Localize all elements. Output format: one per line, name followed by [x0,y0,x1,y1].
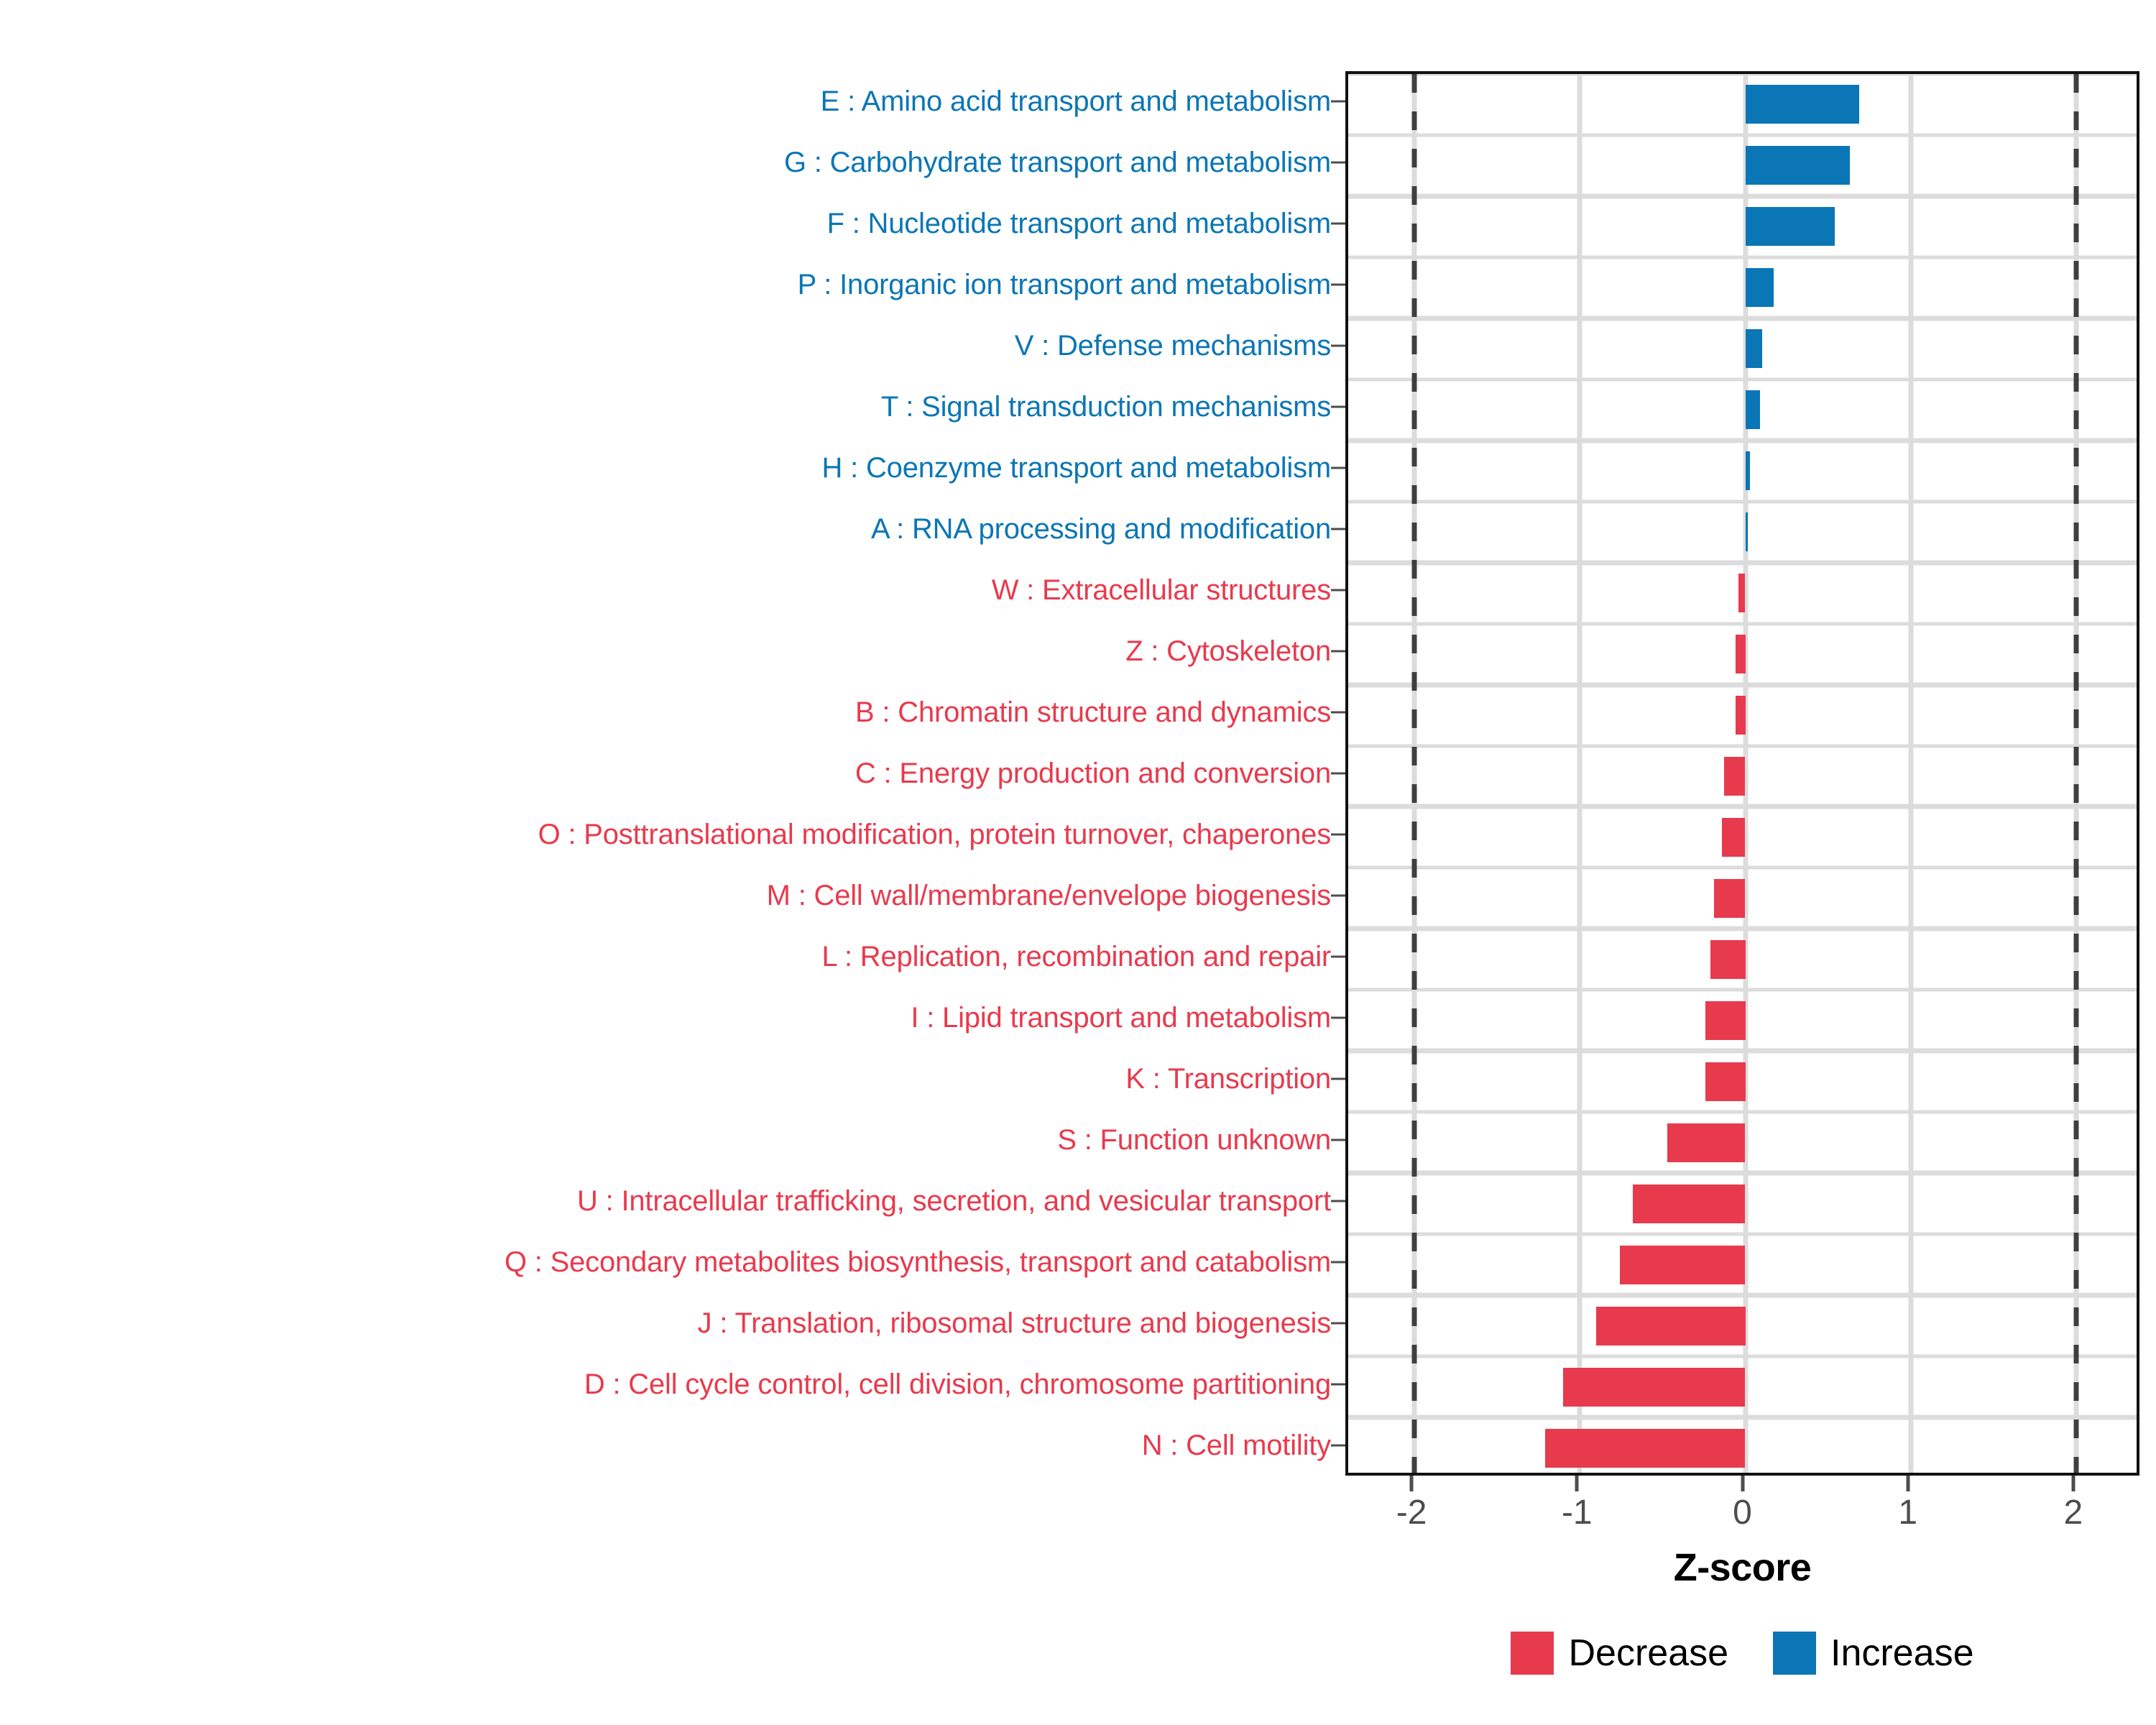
y-axis-tick [1331,1200,1345,1202]
bar [1722,818,1745,857]
gridline-vertical [1908,74,1913,1473]
category-label: G : Carbohydrate transport and metabolis… [0,148,1331,177]
bar [1545,1429,1746,1468]
bar [1746,451,1751,490]
bar [1738,574,1745,612]
category-label: E : Amino acid transport and metabolism [0,87,1331,116]
y-axis-tick [1331,406,1345,408]
plot-panel [1345,71,2139,1476]
y-axis-tick [1331,162,1345,164]
category-label: I : Lipid transport and metabolism [0,1003,1331,1032]
legend-swatch [1511,1632,1554,1675]
bar [1667,1123,1745,1162]
category-label-column: E : Amino acid transport and metabolismG… [0,71,1345,1476]
bar [1724,757,1746,796]
category-label: S : Function unknown [0,1126,1331,1154]
x-axis-tick [1741,1476,1744,1491]
legend-swatch [1773,1632,1816,1675]
category-label: C : Energy production and conversion [0,759,1331,788]
bar [1736,696,1746,735]
legend-label: Decrease [1568,1632,1728,1675]
x-axis-title: Z-score [1345,1545,2139,1590]
category-label: K : Transcription [0,1064,1331,1093]
bar [1705,1001,1745,1040]
bar [1596,1307,1745,1345]
bar [1563,1368,1745,1407]
y-axis-tick [1331,1138,1345,1141]
category-label: U : Intracellular trafficking, secretion… [0,1187,1331,1215]
category-label: O : Posttranslational modification, prot… [0,820,1331,849]
bar [1736,635,1746,673]
legend: DecreaseIncrease [1345,1632,2139,1675]
bar [1746,390,1761,429]
x-axis-tick [2071,1476,2075,1491]
y-axis-tick [1331,894,1345,896]
category-label: D : Cell cycle control, cell division, c… [0,1370,1331,1399]
category-label: T : Signal transduction mechanisms [0,392,1331,421]
y-axis-tick [1331,650,1345,653]
legend-item[interactable]: Increase [1773,1632,1973,1675]
category-label: V : Defense mechanisms [0,331,1331,360]
y-axis-tick [1331,467,1345,469]
legend-item[interactable]: Decrease [1511,1632,1728,1675]
y-axis-tick [1331,712,1345,714]
category-label: Q : Secondary metabolites biosynthesis, … [0,1248,1331,1276]
y-axis-tick [1331,1383,1345,1385]
category-label: M : Cell wall/membrane/envelope biogenes… [0,881,1331,910]
category-label: B : Chromatin structure and dynamics [0,698,1331,727]
y-axis-tick [1331,773,1345,775]
x-axis-tick-label: -2 [1396,1493,1427,1532]
category-label: N : Cell motility [0,1431,1331,1460]
y-axis-tick [1331,101,1345,103]
x-axis-tick-label: 0 [1733,1493,1752,1532]
legend-label: Increase [1830,1632,1973,1675]
bar [1620,1246,1746,1284]
x-axis-tick-label: 1 [1898,1493,1917,1532]
x-axis-tick-label: -1 [1562,1493,1593,1532]
y-axis-tick [1331,284,1345,286]
cog-zscore-bar-chart: E : Amino acid transport and metabolismG… [0,0,2156,1725]
bar [1746,268,1774,307]
y-axis-tick [1331,1077,1345,1080]
bar [1746,146,1850,185]
reference-line [2073,74,2078,1473]
x-axis-tick-label: 2 [2064,1493,2083,1532]
bar [1746,85,1860,124]
gridline-vertical [1577,74,1583,1473]
x-axis-tick [1410,1476,1414,1491]
bar [1746,329,1762,368]
category-label: P : Inorganic ion transport and metaboli… [0,270,1331,299]
bar [1746,207,1835,246]
category-label: A : RNA processing and modification [0,515,1331,543]
y-axis-tick [1331,1261,1345,1263]
y-axis-tick [1331,1444,1345,1446]
bar [1633,1184,1746,1223]
category-label: W : Extracellular structures [0,576,1331,604]
bar [1714,879,1746,918]
bar [1746,512,1748,551]
y-axis-tick [1331,1322,1345,1324]
y-axis-tick [1331,589,1345,592]
category-label: Z : Cytoskeleton [0,637,1331,666]
category-label: J : Translation, ribosomal structure and… [0,1309,1331,1338]
category-label: L : Replication, recombination and repai… [0,942,1331,971]
reference-line [1412,74,1417,1473]
x-axis-tick [1575,1476,1579,1491]
y-axis-tick [1331,833,1345,835]
y-axis-tick [1331,1016,1345,1018]
y-axis-tick [1331,345,1345,347]
bar [1710,940,1745,979]
bar [1705,1062,1745,1101]
y-axis-tick [1331,528,1345,530]
category-label: F : Nucleotide transport and metabolism [0,209,1331,238]
category-label: H : Coenzyme transport and metabolism [0,454,1331,482]
y-axis-tick [1331,223,1345,225]
y-axis-tick [1331,955,1345,957]
x-axis-tick [1906,1476,1909,1491]
